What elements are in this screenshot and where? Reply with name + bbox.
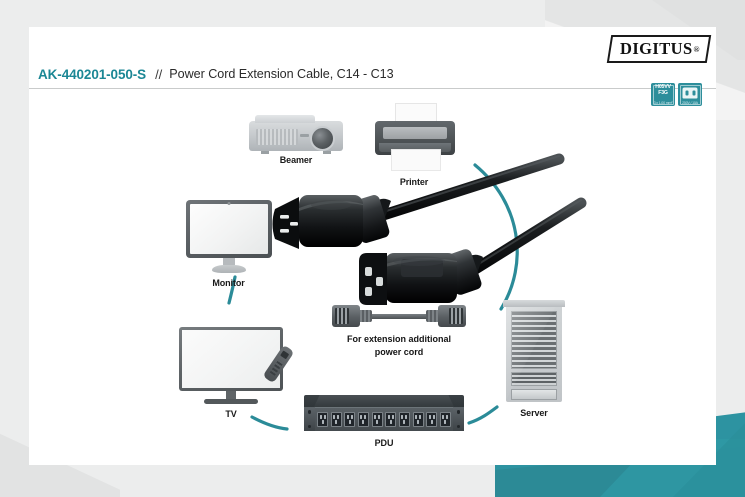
pdu-outlet <box>331 412 342 427</box>
device-label-tv: TV <box>171 409 291 419</box>
pdu-outlet <box>317 412 328 427</box>
pdu-outlet <box>413 412 424 427</box>
beamer-top-panel <box>255 115 315 123</box>
monitor-screen <box>190 204 268 254</box>
server-body <box>506 307 562 402</box>
pdu-outlet <box>385 412 396 427</box>
tv-bezel <box>179 327 283 391</box>
pdu-outlet <box>399 412 410 427</box>
header-divider <box>29 88 716 89</box>
printer-paper-slot <box>383 127 447 139</box>
cable-upper <box>377 156 559 217</box>
header-separator: // <box>155 67 162 82</box>
logo-text: DIGITUS® <box>609 35 709 63</box>
pdu-rack-ear-right <box>453 407 464 431</box>
device-label-pdu: PDU <box>299 438 469 448</box>
product-header: AK-440201-050-S // Power Cord Extension … <box>38 63 698 85</box>
monitor-stand-neck <box>223 258 235 265</box>
pdu-outlet <box>358 412 369 427</box>
screenshot-canvas: DIGITUS® AK-440201-050-S // Power Cord E… <box>0 0 745 497</box>
server-optical-drive <box>511 389 557 400</box>
pdu-outlet <box>372 412 383 427</box>
hero-power-cord <box>259 145 589 320</box>
product-sku: AK-440201-050-S <box>38 67 146 82</box>
tv-stand-neck <box>226 391 236 399</box>
hero-power-cord-svg <box>259 145 589 320</box>
device-tv: TV <box>171 327 291 419</box>
extension-caption-line2: power cord <box>375 347 424 357</box>
connector-c13-female <box>359 248 483 305</box>
device-pdu: PDU <box>299 395 469 448</box>
extension-caption: For extension additional power cord <box>315 333 483 358</box>
pdu-outlet <box>440 412 451 427</box>
connector-c14-male <box>273 194 392 249</box>
pdu-chassis <box>304 395 464 431</box>
pdu-outlet <box>344 412 355 427</box>
logo-wordmark: DIGITUS <box>620 39 693 59</box>
extension-caption-line1: For extension additional <box>347 334 451 344</box>
pdu-outlet-row <box>317 410 451 428</box>
cable-lower <box>469 200 581 273</box>
pdu-outlet <box>426 412 437 427</box>
product-title: Power Cord Extension Cable, C14 - C13 <box>169 67 393 81</box>
beamer-vent-grille <box>256 129 298 145</box>
digitus-logo: DIGITUS® <box>609 35 709 63</box>
device-label-server: Server <box>484 408 584 418</box>
registered-trademark-icon: ® <box>694 45 700 54</box>
pdu-top-face <box>314 395 454 407</box>
tv-stand-base <box>204 399 258 404</box>
monitor-camera-icon <box>227 202 230 205</box>
pdu-rack-ear-left <box>304 407 315 431</box>
monitor-stand-base <box>212 265 246 273</box>
beamer-knob <box>300 134 309 137</box>
application-diagram: Beamer Printer Monitor <box>29 95 716 455</box>
server-drive-bays-secondary <box>511 372 557 386</box>
tv-screen <box>182 330 280 388</box>
